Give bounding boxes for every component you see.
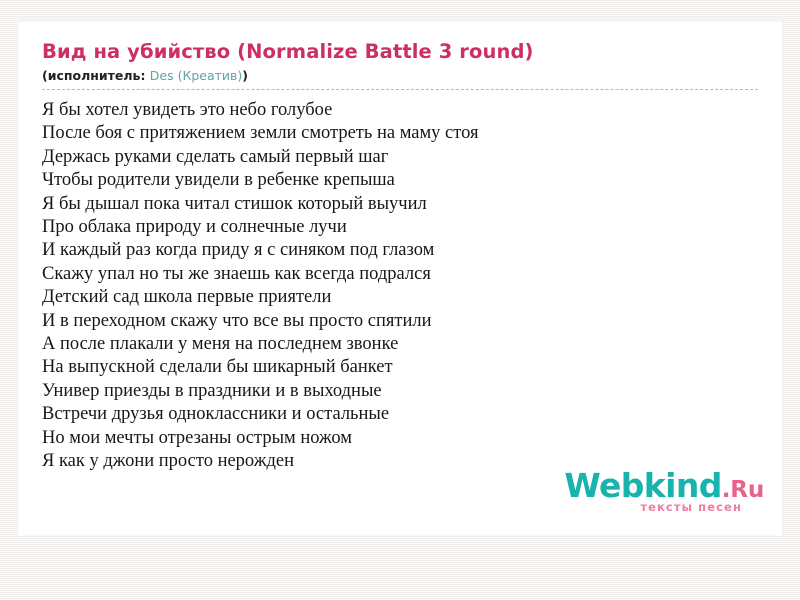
lyrics-line: Универ приезды в праздники и в выходные <box>42 380 758 403</box>
lyrics-line: А после плакали у меня на последнем звон… <box>42 333 758 356</box>
artist-link[interactable]: Des (Креатив) <box>150 68 243 83</box>
lyrics-line: Держась руками сделать самый первый шаг <box>42 146 758 169</box>
artist-prefix-label: (исполнитель: <box>42 68 150 83</box>
artist-line: (исполнитель: Des (Креатив)) <box>42 67 758 85</box>
lyrics-content-card: Вид на убийство (Normalize Battle 3 roun… <box>18 22 782 535</box>
lyrics-line: И каждый раз когда приду я с синяком под… <box>42 239 758 262</box>
lyrics-line: Встречи друзья одноклассники и остальные <box>42 403 758 426</box>
lyrics-line: Я бы хотел увидеть это небо голубое <box>42 99 758 122</box>
lyrics-line: После боя с притяжением земли смотреть н… <box>42 122 758 145</box>
lyrics-line: Скажу упал но ты же знаешь как всегда по… <box>42 263 758 286</box>
lyrics-line: Чтобы родители увидели в ребенке крепыша <box>42 169 758 192</box>
lyrics-line: Но мои мечты отрезаны острым ножом <box>42 427 758 450</box>
lyrics-line: Про облака природу и солнечные лучи <box>42 216 758 239</box>
page-title: Вид на убийство (Normalize Battle 3 roun… <box>42 40 758 64</box>
lyrics-line: Я бы дышал пока читал стишок который выу… <box>42 193 758 216</box>
artist-suffix-label: ) <box>242 68 248 83</box>
lyrics-line: На выпускной сделали бы шикарный банкет <box>42 356 758 379</box>
lyrics-line: Детский сад школа первые приятели <box>42 286 758 309</box>
lyrics-line: И в переходном скажу что все вы просто с… <box>42 310 758 333</box>
webkind-logo[interactable]: Webkind.Ru тексты песен <box>556 469 764 525</box>
song-header: Вид на убийство (Normalize Battle 3 roun… <box>18 22 782 85</box>
lyrics-text: Я бы хотел увидеть это небо голубое Посл… <box>18 90 782 474</box>
